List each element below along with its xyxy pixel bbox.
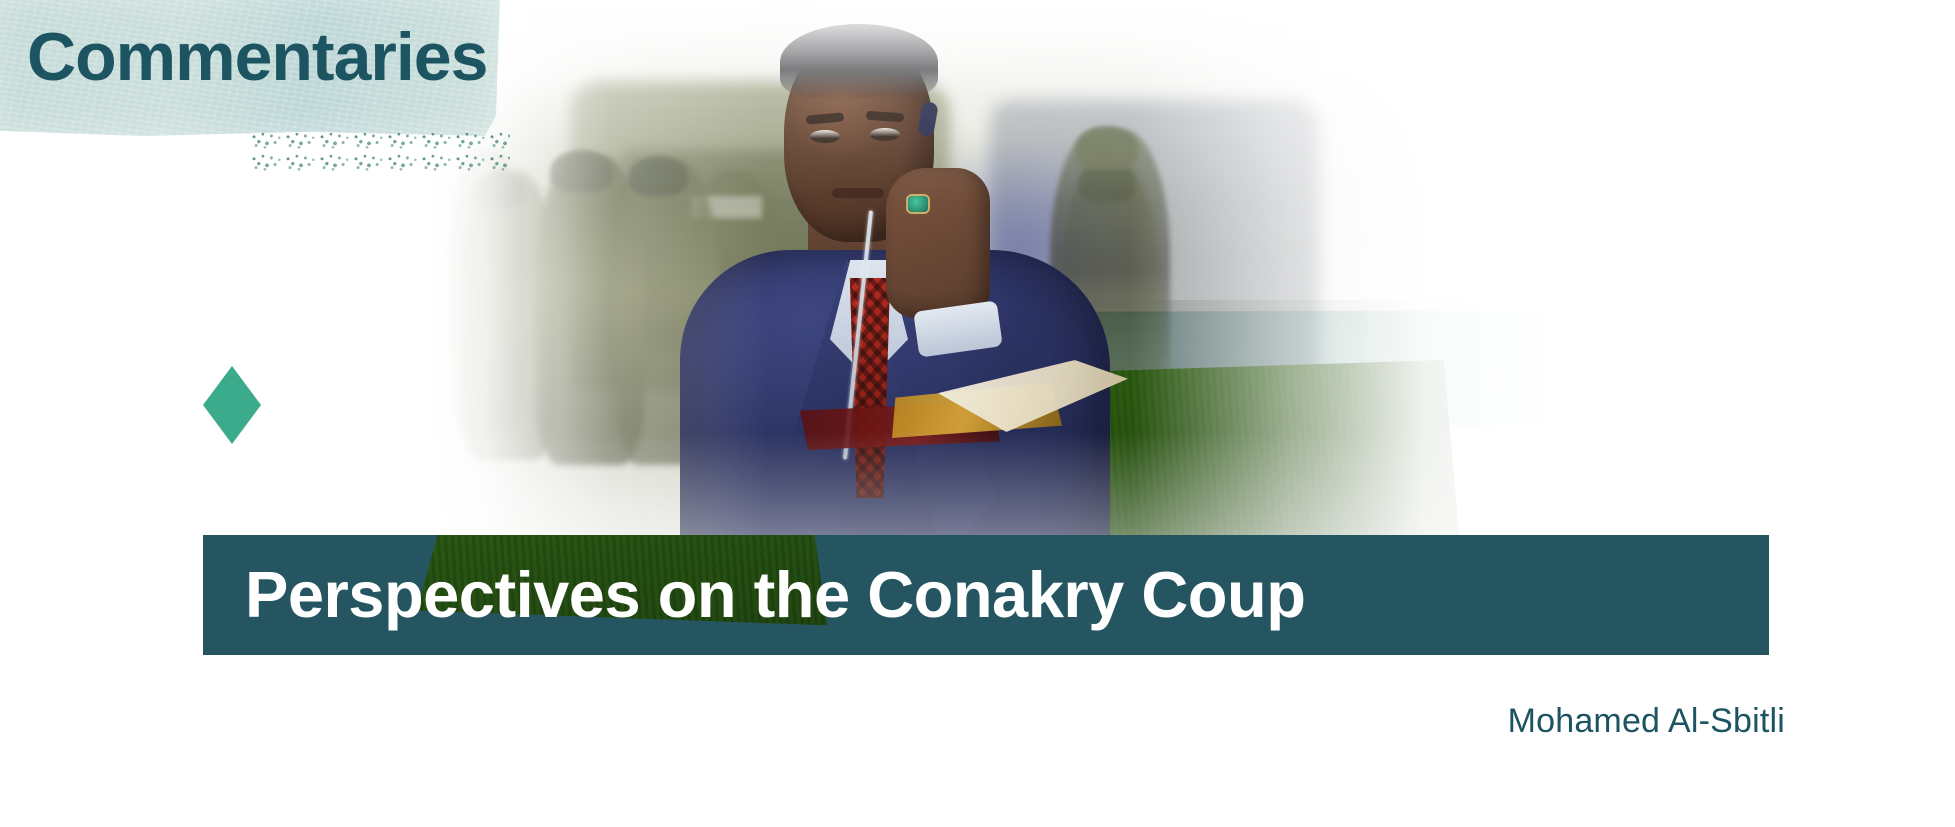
page-title: Perspectives on the Conakry Coup	[245, 545, 1745, 645]
band-speckle-texture	[250, 128, 510, 172]
subject-hand	[886, 168, 990, 318]
green-texture-patch	[1050, 360, 1460, 560]
mouth	[832, 188, 884, 198]
portrait-subject	[680, 10, 1110, 600]
commentaries-hero-banner: Commentaries Perspectives on the Conakry…	[0, 0, 1955, 827]
eye-left	[810, 130, 840, 143]
section-kicker-label: Commentaries	[27, 23, 487, 91]
subject-hair	[780, 24, 938, 100]
soldier-helmet	[472, 172, 526, 208]
soldier-helmet	[550, 150, 612, 192]
hero-image	[430, 0, 1560, 600]
diamond-accent-icon	[203, 366, 261, 444]
eye-right	[870, 128, 900, 141]
green-gemstone-ring	[908, 196, 928, 212]
author-byline: Mohamed Al-Sbitli	[0, 702, 1785, 741]
soldier-helmet	[628, 156, 688, 196]
